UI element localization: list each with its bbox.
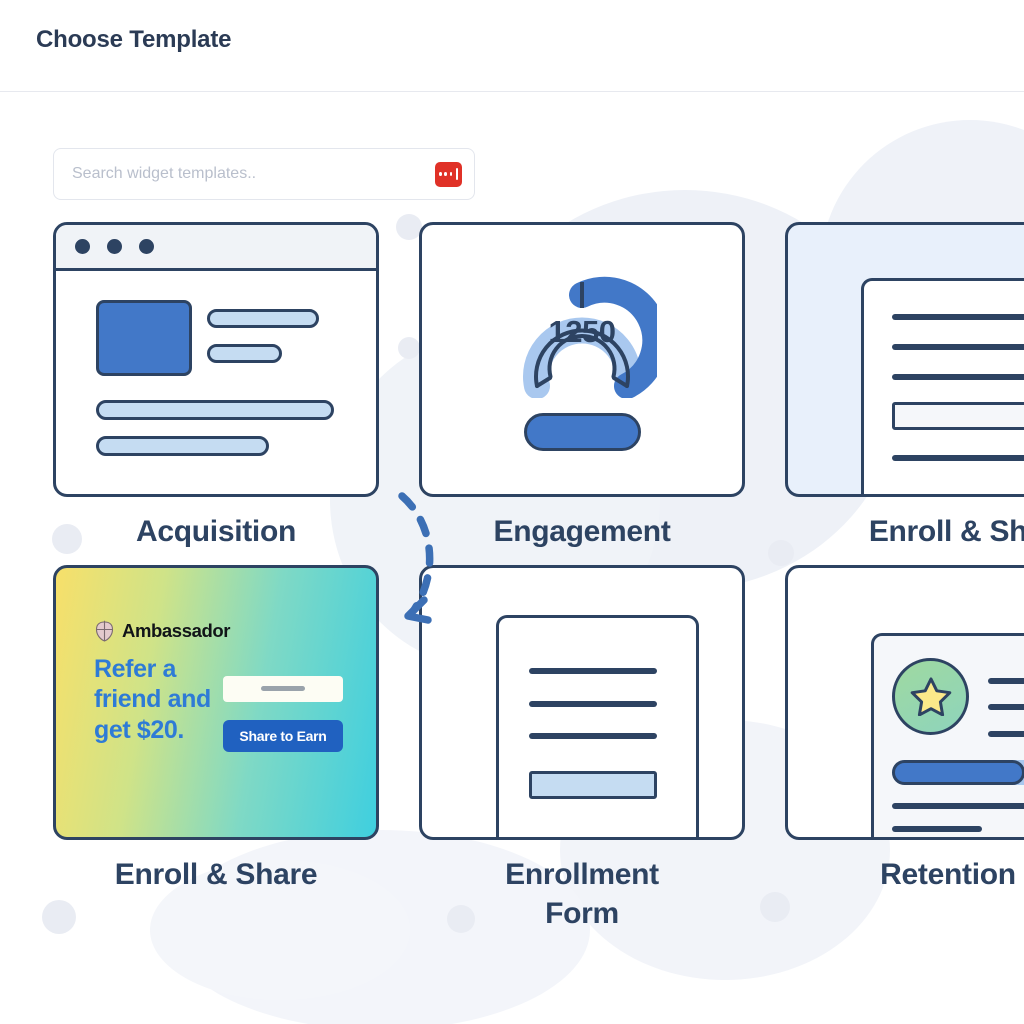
gauge-value: 1250 bbox=[507, 314, 657, 350]
text-placeholder-line bbox=[988, 704, 1024, 710]
dot-glyph bbox=[450, 172, 453, 176]
brand-row: Ambassador bbox=[94, 620, 230, 643]
template-card-engagement[interactable]: 1250 Engagement bbox=[419, 222, 745, 552]
document-panel bbox=[861, 278, 1024, 497]
gauge-wrapper: 1250 bbox=[422, 225, 742, 494]
dot-glyph bbox=[444, 172, 447, 176]
more-options-icon[interactable] bbox=[435, 162, 462, 187]
page-title: Choose Template bbox=[36, 26, 231, 54]
text-placeholder-line bbox=[892, 374, 1024, 380]
search-bar[interactable] bbox=[53, 148, 475, 200]
template-card-enrollment-form[interactable]: Enrollment Form bbox=[419, 565, 745, 934]
browser-body bbox=[56, 271, 376, 494]
progress-bar-fill bbox=[892, 760, 1024, 785]
template-grid: Acquisition bbox=[53, 222, 1024, 934]
window-dot-icon bbox=[75, 239, 90, 254]
text-placeholder-line bbox=[892, 344, 1024, 350]
template-picker-screen: Choose Template bbox=[0, 0, 1024, 1024]
text-placeholder-line bbox=[892, 826, 982, 832]
search-input[interactable] bbox=[72, 165, 435, 183]
template-label: Acquisition bbox=[53, 512, 379, 552]
input-value-stub bbox=[261, 686, 305, 691]
template-label: Enroll & Share bbox=[53, 855, 379, 895]
template-label: Retention bbox=[785, 855, 1024, 895]
window-dot-icon bbox=[107, 239, 122, 254]
card-illustration-form-document[interactable] bbox=[419, 565, 745, 840]
star-badge-icon bbox=[892, 658, 969, 735]
template-label: Enroll & Sh bbox=[785, 512, 1024, 552]
progress-bar bbox=[892, 760, 1024, 785]
text-placeholder-line bbox=[529, 668, 657, 674]
text-placeholder-line bbox=[529, 701, 657, 707]
template-card-retention[interactable]: Retention bbox=[785, 565, 1024, 934]
form-document-panel bbox=[496, 615, 699, 840]
image-placeholder bbox=[96, 300, 192, 376]
share-to-earn-button[interactable]: Share to Earn bbox=[223, 720, 343, 752]
template-card-enroll-share[interactable]: Ambassador Refer a friend and get $20. S… bbox=[53, 565, 379, 934]
template-card-enroll-share-top[interactable]: Enroll & Sh bbox=[785, 222, 1024, 552]
window-dot-icon bbox=[139, 239, 154, 254]
browser-titlebar bbox=[56, 225, 376, 271]
text-placeholder-line bbox=[892, 455, 1024, 461]
card-illustration-gauge[interactable]: 1250 bbox=[419, 222, 745, 497]
template-card-acquisition[interactable]: Acquisition bbox=[53, 222, 379, 552]
text-placeholder-line bbox=[529, 733, 657, 739]
input-placeholder bbox=[892, 402, 1024, 430]
referral-headline: Refer a friend and get $20. bbox=[94, 654, 219, 746]
template-label: Engagement bbox=[419, 512, 745, 552]
page-header: Choose Template bbox=[0, 0, 1024, 92]
text-placeholder-line bbox=[892, 314, 1024, 320]
card-illustration-referral-widget[interactable]: Ambassador Refer a friend and get $20. S… bbox=[53, 565, 379, 840]
card-illustration-document-panel[interactable] bbox=[785, 222, 1024, 497]
text-placeholder-line bbox=[892, 803, 1024, 809]
brand-name: Ambassador bbox=[122, 620, 230, 642]
dot-glyph bbox=[439, 172, 442, 176]
card-illustration-rewards-card[interactable] bbox=[785, 565, 1024, 840]
text-placeholder-line bbox=[96, 400, 334, 420]
page-content: Acquisition bbox=[0, 92, 1024, 1024]
text-placeholder-line bbox=[988, 678, 1024, 684]
input-placeholder bbox=[529, 771, 657, 799]
text-placeholder-line bbox=[988, 731, 1024, 737]
template-label: Enrollment Form bbox=[419, 855, 745, 934]
text-placeholder-line bbox=[207, 309, 319, 328]
text-placeholder-line bbox=[207, 344, 282, 363]
referral-input[interactable] bbox=[223, 676, 343, 702]
card-illustration-browser-window[interactable] bbox=[53, 222, 379, 497]
text-placeholder-line bbox=[96, 436, 269, 456]
ambassador-logo-icon bbox=[94, 620, 115, 643]
button-placeholder bbox=[524, 413, 641, 451]
bar-glyph bbox=[456, 168, 458, 180]
gauge-icon: 1250 bbox=[507, 268, 657, 398]
